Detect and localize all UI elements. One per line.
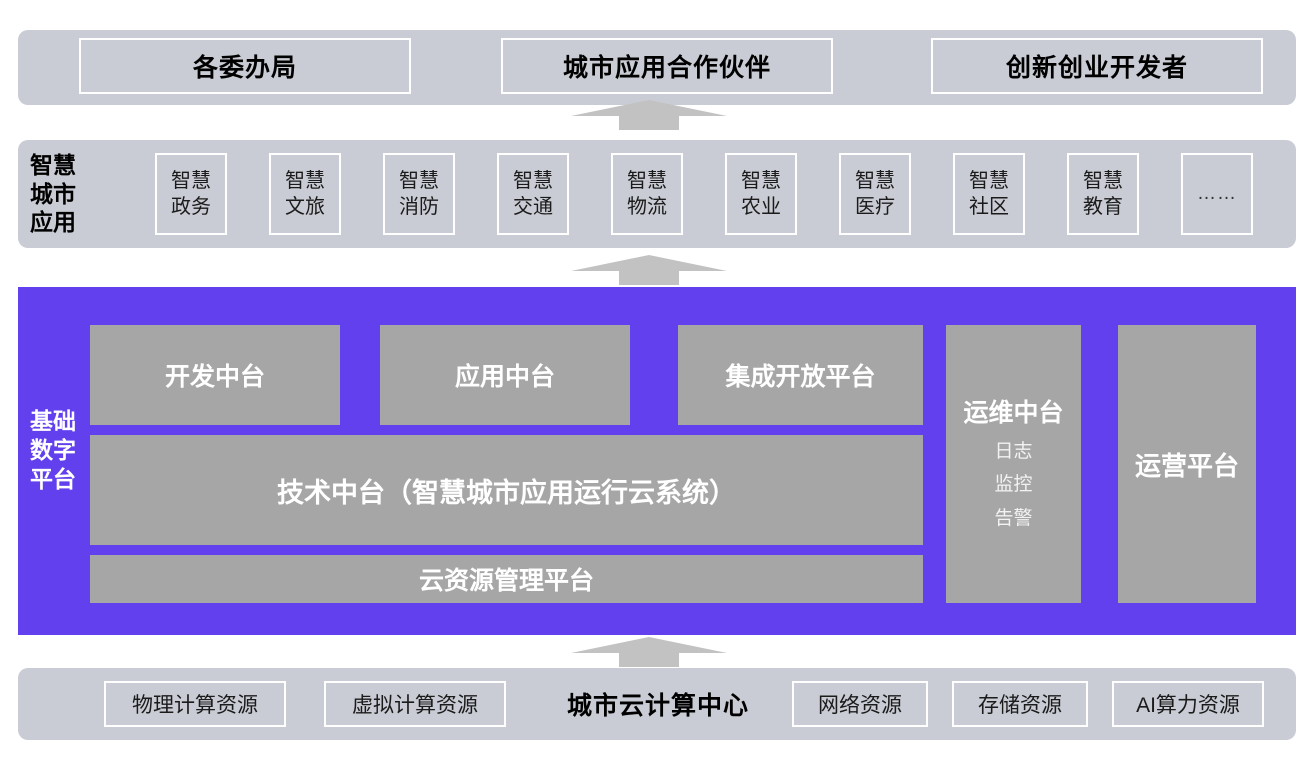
app-box-line-1: 智慧 bbox=[741, 168, 781, 194]
consumer-box-label: 创新创业开发者 bbox=[1006, 48, 1188, 84]
arrow-apps-from-platform bbox=[571, 255, 727, 285]
ops-midplatform-item-alerting: 告警 bbox=[994, 502, 1032, 535]
cloud-center-band: 物理计算资源 虚拟计算资源 城市云计算中心 网络资源 存储资源 AI算力资源 bbox=[18, 668, 1296, 740]
resource-box-storage[interactable]: 存储资源 bbox=[952, 681, 1088, 727]
resource-box-label: AI算力资源 bbox=[1136, 689, 1240, 719]
app-box-line-2: 政务 bbox=[171, 194, 211, 220]
resource-box-virtual-compute[interactable]: 虚拟计算资源 bbox=[324, 681, 506, 727]
app-box-education[interactable]: 智慧 教育 bbox=[1067, 153, 1139, 235]
diagram-canvas: 各委办局 城市应用合作伙伴 创新创业开发者 智慧 城市 应用 智慧 政务 智慧 … bbox=[0, 0, 1314, 759]
platform-label-line-2: 数字 bbox=[30, 436, 76, 465]
platform-box-integration-open-platform[interactable]: 集成开放平台 bbox=[678, 325, 923, 425]
platform-box-operation-platform[interactable]: 运营平台 bbox=[1118, 325, 1256, 603]
resource-box-label: 存储资源 bbox=[978, 689, 1062, 719]
app-box-line-2: 物流 bbox=[627, 194, 667, 220]
app-box-line-1: 智慧 bbox=[627, 168, 667, 194]
applications-band: 智慧 城市 应用 智慧 政务 智慧 文旅 智慧 消防 智慧 交通 智慧 物流 智… bbox=[18, 140, 1296, 248]
app-box-line-2: 文旅 bbox=[285, 194, 325, 220]
cloud-center-title: 城市云计算中心 bbox=[546, 681, 770, 727]
app-box-more[interactable]: …… bbox=[1181, 153, 1253, 235]
app-box-line-1: 智慧 bbox=[969, 168, 1009, 194]
applications-label-line-3: 应用 bbox=[30, 208, 76, 237]
platform-box-cloud-resource-management[interactable]: 云资源管理平台 bbox=[90, 555, 923, 603]
app-box-line-1: 智慧 bbox=[855, 168, 895, 194]
app-box-line-2: 消防 bbox=[399, 194, 439, 220]
app-box-logistics[interactable]: 智慧 物流 bbox=[611, 153, 683, 235]
app-box-more-label: …… bbox=[1197, 182, 1237, 207]
up-arrow-icon bbox=[571, 637, 727, 667]
app-box-agriculture[interactable]: 智慧 农业 bbox=[725, 153, 797, 235]
arrow-platform-from-cloud bbox=[571, 637, 727, 667]
app-box-line-2: 社区 bbox=[969, 194, 1009, 220]
platform-box-label: 开发中台 bbox=[165, 357, 265, 393]
applications-section-label: 智慧 城市 应用 bbox=[30, 150, 122, 238]
resource-box-physical-compute[interactable]: 物理计算资源 bbox=[104, 681, 286, 727]
up-arrow-icon bbox=[571, 100, 727, 130]
platform-box-application-midplatform[interactable]: 应用中台 bbox=[380, 325, 630, 425]
platform-box-label: 运营平台 bbox=[1135, 446, 1239, 483]
ops-midplatform-title: 运维中台 bbox=[963, 393, 1063, 429]
app-box-egovernment[interactable]: 智慧 政务 bbox=[155, 153, 227, 235]
platform-box-label: 技术中台（智慧城市应用运行云系统） bbox=[277, 471, 736, 510]
app-box-line-1: 智慧 bbox=[285, 168, 325, 194]
app-box-culture-tourism[interactable]: 智慧 文旅 bbox=[269, 153, 341, 235]
app-box-firefighting[interactable]: 智慧 消防 bbox=[383, 153, 455, 235]
applications-label-line-2: 城市 bbox=[30, 180, 76, 209]
consumer-box-label: 城市应用合作伙伴 bbox=[563, 48, 771, 84]
consumer-box-developers[interactable]: 创新创业开发者 bbox=[931, 38, 1263, 94]
cloud-center-title-label: 城市云计算中心 bbox=[567, 686, 749, 722]
resource-box-network[interactable]: 网络资源 bbox=[792, 681, 928, 727]
app-box-line-2: 交通 bbox=[513, 194, 553, 220]
app-box-line-1: 智慧 bbox=[399, 168, 439, 194]
resource-box-label: 物理计算资源 bbox=[132, 689, 258, 719]
app-box-line-1: 智慧 bbox=[1083, 168, 1123, 194]
app-box-healthcare[interactable]: 智慧 医疗 bbox=[839, 153, 911, 235]
resource-box-label: 网络资源 bbox=[818, 689, 902, 719]
app-box-community[interactable]: 智慧 社区 bbox=[953, 153, 1025, 235]
app-box-line-1: 智慧 bbox=[171, 168, 211, 194]
digital-platform-panel: 基础 数字 平台 开发中台 应用中台 集成开放平台 技术中台（智慧城市应用运行云… bbox=[18, 287, 1296, 635]
platform-box-technology-midplatform[interactable]: 技术中台（智慧城市应用运行云系统） bbox=[90, 435, 923, 545]
consumer-box-label: 各委办局 bbox=[193, 48, 297, 84]
ops-midplatform-item-monitoring: 监控 bbox=[994, 468, 1032, 501]
platform-box-label: 集成开放平台 bbox=[725, 357, 875, 393]
resource-box-label: 虚拟计算资源 bbox=[352, 689, 478, 719]
platform-label-line-1: 基础 bbox=[30, 407, 76, 436]
consumer-box-government[interactable]: 各委办局 bbox=[79, 38, 411, 94]
platform-box-development-midplatform[interactable]: 开发中台 bbox=[90, 325, 340, 425]
consumers-band: 各委办局 城市应用合作伙伴 创新创业开发者 bbox=[18, 30, 1296, 105]
app-box-line-2: 医疗 bbox=[855, 194, 895, 220]
platform-label-line-3: 平台 bbox=[30, 465, 76, 494]
platform-box-label: 应用中台 bbox=[455, 357, 555, 393]
applications-label-line-1: 智慧 bbox=[30, 151, 76, 180]
platform-box-operations-midplatform[interactable]: 运维中台 日志 监控 告警 bbox=[946, 325, 1081, 603]
app-box-transportation[interactable]: 智慧 交通 bbox=[497, 153, 569, 235]
resource-box-ai-compute[interactable]: AI算力资源 bbox=[1112, 681, 1264, 727]
ops-midplatform-item-logs: 日志 bbox=[994, 435, 1032, 468]
up-arrow-icon bbox=[571, 255, 727, 285]
app-box-line-2: 教育 bbox=[1083, 194, 1123, 220]
app-box-line-2: 农业 bbox=[741, 194, 781, 220]
app-box-line-1: 智慧 bbox=[513, 168, 553, 194]
consumer-box-partners[interactable]: 城市应用合作伙伴 bbox=[501, 38, 833, 94]
arrow-consumers-from-apps bbox=[571, 100, 727, 130]
platform-box-label: 云资源管理平台 bbox=[419, 561, 594, 597]
